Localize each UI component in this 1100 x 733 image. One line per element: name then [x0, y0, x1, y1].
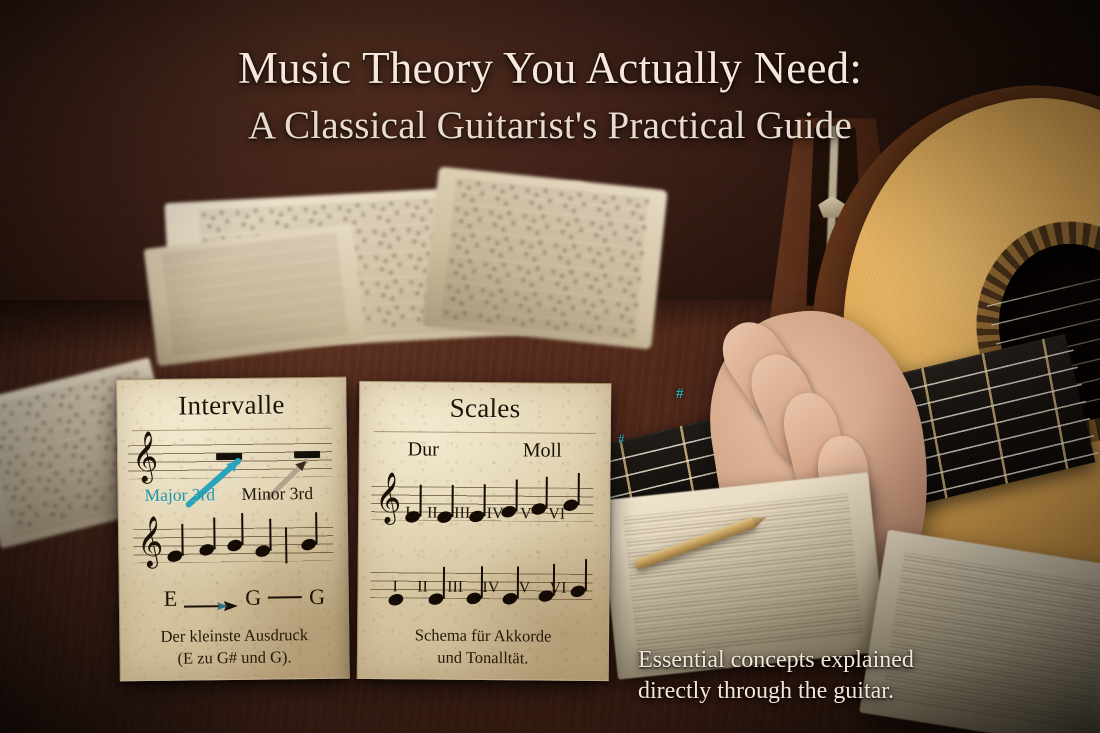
- degree: V: [519, 579, 531, 597]
- sequence-note-to: G: [245, 585, 261, 611]
- card-scales-caption: Schema für Akkorde und Tonalltät.: [358, 624, 608, 670]
- label-dur: Dur: [408, 438, 439, 461]
- card-divider: [132, 428, 332, 431]
- sequence-dash: [268, 596, 302, 598]
- caption-line-2: (E zu G# und G).: [120, 646, 348, 671]
- interval-sequence: E G G: [164, 584, 326, 612]
- degree: II: [427, 505, 438, 523]
- interval-staff: 𝄞: [128, 439, 332, 483]
- caption-line-2: und Tonalltät.: [358, 646, 608, 670]
- scale-degrees-bottom: I II III IV V VI: [358, 578, 608, 598]
- label-minor-third: Minor 3rd: [241, 483, 313, 505]
- degree: VI: [548, 506, 565, 524]
- scale-mode-labels: Dur Moll: [360, 438, 610, 463]
- degree: I: [405, 504, 410, 522]
- tagline-line-1: Essential concepts explained: [638, 645, 914, 676]
- label-moll: Moll: [523, 439, 562, 462]
- sequence-arrow-icon: [184, 592, 238, 605]
- caption-line-1: Schema für Akkorde: [358, 624, 608, 648]
- degree: VI: [549, 580, 566, 598]
- tagline: Essential concepts explained directly th…: [638, 645, 914, 707]
- card-scales-title: Scales: [360, 392, 610, 425]
- staff-texture: [161, 233, 349, 358]
- sequence-note-tail: G: [309, 584, 325, 610]
- degree: III: [447, 579, 463, 597]
- sheet-music-book-right: [422, 166, 667, 349]
- degree: II: [417, 578, 428, 596]
- card-intervalle-caption: Der kleinste Ausdruck (E zu G# und G).: [120, 624, 349, 671]
- card-intervalle-title: Intervalle: [117, 389, 345, 423]
- melody-staff: 𝄞: [133, 519, 334, 567]
- card-scales[interactable]: Scales Dur Moll 𝄞 I II III IV V VI: [357, 381, 612, 681]
- tagline-line-2: directly through the guitar.: [638, 676, 914, 707]
- fret-marker-sharp-2: #: [618, 431, 625, 447]
- degree: IV: [487, 505, 504, 523]
- degree: IV: [482, 579, 499, 597]
- card-divider: [374, 431, 596, 434]
- staff-texture: [882, 551, 1100, 730]
- fret-marker-sharp-1: #: [676, 386, 684, 403]
- barline: [285, 527, 287, 563]
- scale-degrees-top: I II III IV V VI: [359, 504, 609, 524]
- degree: III: [454, 505, 470, 523]
- book-page-right: [422, 166, 667, 349]
- staff-texture: [623, 493, 864, 660]
- sequence-note-from: E: [164, 586, 178, 612]
- degree: I: [392, 578, 397, 596]
- label-major-third: Major 3rd: [144, 484, 215, 506]
- treble-clef-icon: 𝄞: [132, 435, 159, 479]
- degree: V: [520, 505, 532, 523]
- poster-canvas: # # Music Theory You Actually Need: A Cl…: [0, 0, 1100, 733]
- note-texture: [442, 178, 649, 338]
- treble-clef-icon: 𝄞: [137, 520, 164, 564]
- card-intervalle[interactable]: Intervalle 𝄞 Major 3rd Minor 3rd 𝄞: [116, 377, 350, 682]
- caption-line-1: Der kleinste Ausdruck: [120, 624, 348, 649]
